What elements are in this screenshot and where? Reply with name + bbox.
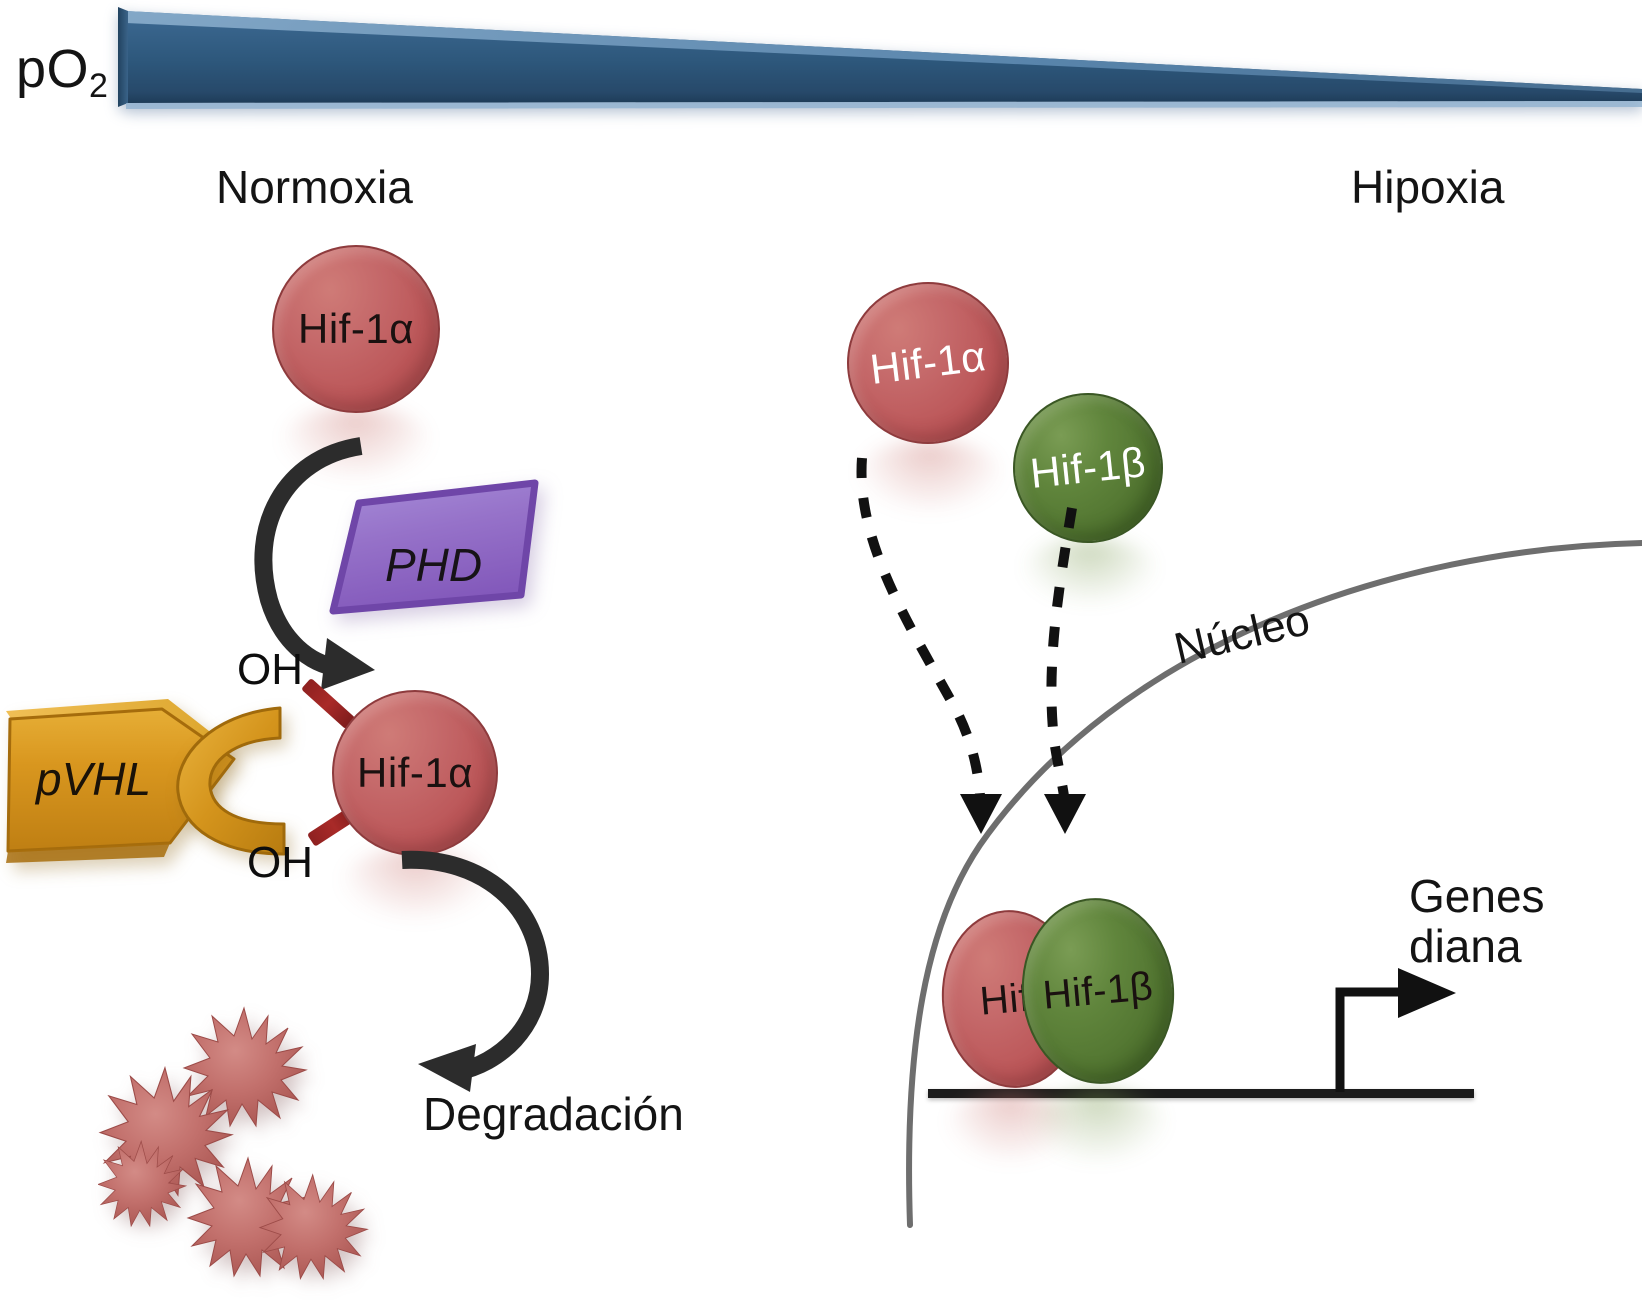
normoxia-label: Normoxia [216,163,413,213]
hif1a-hypoxia-disc: Hif-1α [838,273,1019,454]
figure-canvas: pO2 Normoxia Hipoxia Hif-1α PHD [0,0,1642,1302]
genes-diana-line1: Genes [1409,870,1545,922]
hif1a-hypoxia-reflection [856,440,1004,512]
genes-diana-line2: diana [1409,920,1522,972]
nucleo-label: Núcleo [1170,596,1314,673]
dimer-beta-reflection [1028,1088,1168,1162]
hif1b-hypoxia-reflection [1022,538,1158,604]
phd-label: PHD [385,538,482,592]
hif1a-bound-label: Hif-1α [357,749,473,797]
dna-strand [928,1089,1474,1098]
hydroxyl-bottom-label: OH [247,839,313,887]
hif1a-bound-disc: Hif-1α [332,690,498,856]
po2-axis-label: pO2 [16,40,108,105]
hipoxia-label: Hipoxia [1351,163,1504,213]
hif1a-bound-reflection [340,848,492,920]
hydroxyl-top-label: OH [237,646,303,694]
hif1a-free-reflection [280,406,432,480]
genes-diana-label: Genesdiana [1409,872,1545,971]
transcription-start-arrow [1332,966,1462,1096]
hif1a-free-disc: Hif-1α [272,245,440,413]
degradacion-label: Degradación [423,1090,684,1140]
dimer-hif1b-label: Hif-1β [1041,964,1155,1018]
po2-gradient-wedge [118,3,1642,111]
hif1a-free-label: Hif-1α [298,305,414,353]
hif1a-hypoxia-label: Hif-1α [868,332,989,394]
dimer-alpha-reflection [946,1090,1076,1162]
hydroxyl-top-bond [301,678,356,729]
pvhl-label: pVHL [36,752,151,806]
hif1b-hypoxia-disc: Hif-1β [1006,386,1171,551]
degradation-fragments [98,990,478,1302]
hif1b-hypoxia-label: Hif-1β [1028,438,1148,498]
